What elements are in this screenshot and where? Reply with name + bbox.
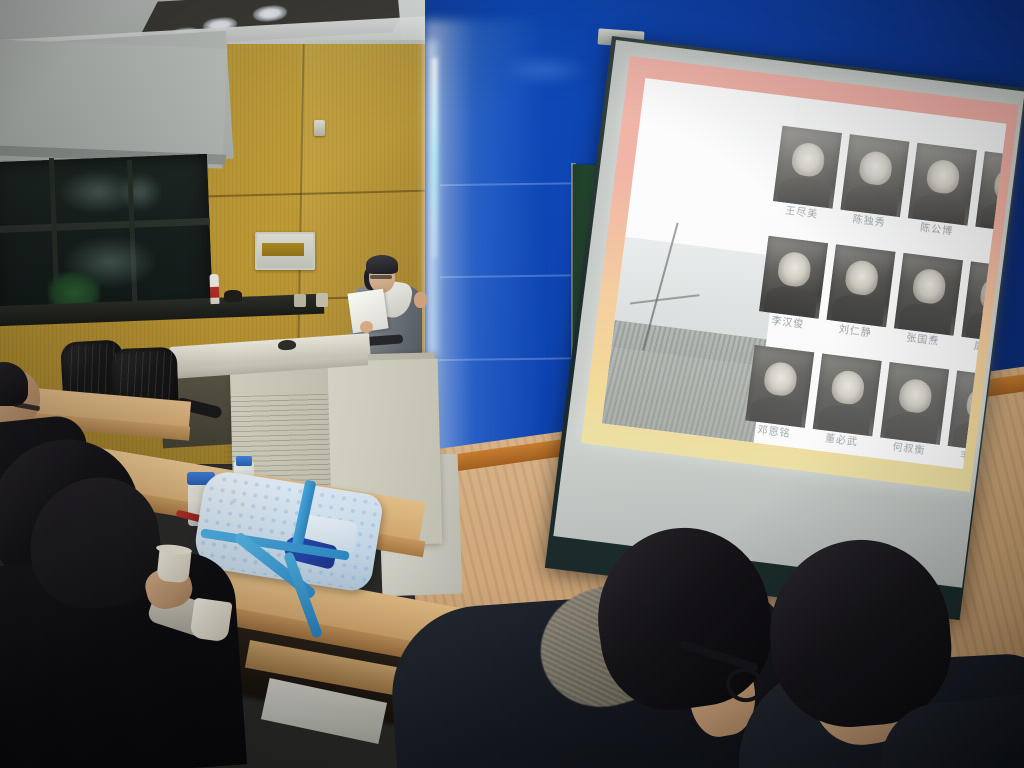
- portrait-name: 何叔衡: [892, 442, 926, 457]
- portrait-photo: [773, 126, 842, 209]
- presenter-glasses-icon: [370, 275, 392, 279]
- portrait-photo: [975, 152, 1006, 235]
- photo-shore: [602, 320, 767, 443]
- slide-content-area: 王尽美 陈独秀 陈公博 李达 李汉俊: [602, 78, 1007, 469]
- portrait-cell: 李汉俊: [757, 219, 830, 332]
- dark-cup[interactable]: [224, 290, 242, 302]
- projected-slide: 王尽美 陈独秀 陈公博 李达 李汉俊: [581, 56, 1019, 492]
- portrait-name: 董必武: [824, 434, 858, 449]
- portrait-grid: 王尽美 陈独秀 陈公博 李达 李汉俊: [743, 110, 1004, 462]
- portrait-photo: [813, 353, 882, 436]
- portrait-cell: 陈公博: [906, 127, 979, 240]
- portrait-name: 李汉俊: [771, 316, 805, 331]
- wall-light-glow: [425, 20, 545, 480]
- portrait-cell: 刘仁静: [825, 228, 898, 341]
- paper-cup-held[interactable]: [189, 598, 232, 643]
- wall-air-vent-inner: [262, 243, 304, 256]
- portrait-cell: 王尽美: [771, 110, 844, 223]
- white-cup-1[interactable]: [294, 294, 306, 307]
- white-cup-2[interactable]: [316, 293, 328, 307]
- presenter-beanie-hat: [366, 255, 398, 274]
- wall-sensor-icon: [314, 120, 325, 136]
- portrait-name: 王尽美: [785, 206, 819, 221]
- portrait-photo: [908, 143, 977, 226]
- portrait-cell: 李达: [974, 135, 1007, 248]
- potted-plant: [48, 272, 100, 306]
- portrait-cell: 邓恩铭: [743, 329, 816, 442]
- plastic-water-bottle-cap[interactable]: [236, 456, 252, 466]
- portrait-cell: 何叔衡: [878, 346, 951, 459]
- portrait-name: 邓恩铭: [757, 425, 791, 440]
- classroom-photo: 王尽美 陈独秀 陈公博 李达 李汉俊: [0, 0, 1024, 768]
- portrait-photo: [894, 252, 963, 335]
- portrait-cell: 张国焘: [892, 236, 965, 349]
- portrait-photo: [840, 134, 909, 217]
- portrait-photo: [745, 345, 814, 428]
- portrait-name: 陈公博: [919, 223, 953, 238]
- portrait-name: 陈独秀: [852, 215, 886, 230]
- red-label-bottle[interactable]: [209, 274, 219, 304]
- portrait-photo: [826, 244, 895, 327]
- portrait-cell: 陈独秀: [839, 118, 912, 231]
- portrait-photo: [880, 362, 949, 445]
- portrait-name: 张国焘: [906, 333, 940, 348]
- presenter-right-hand: [414, 292, 427, 308]
- portrait-cell: 董必武: [811, 337, 884, 450]
- window-reflection-3: [118, 172, 162, 212]
- wall-light-strip-core: [432, 58, 437, 258]
- portrait-photo: [759, 235, 828, 318]
- portrait-name: 刘仁静: [838, 324, 872, 339]
